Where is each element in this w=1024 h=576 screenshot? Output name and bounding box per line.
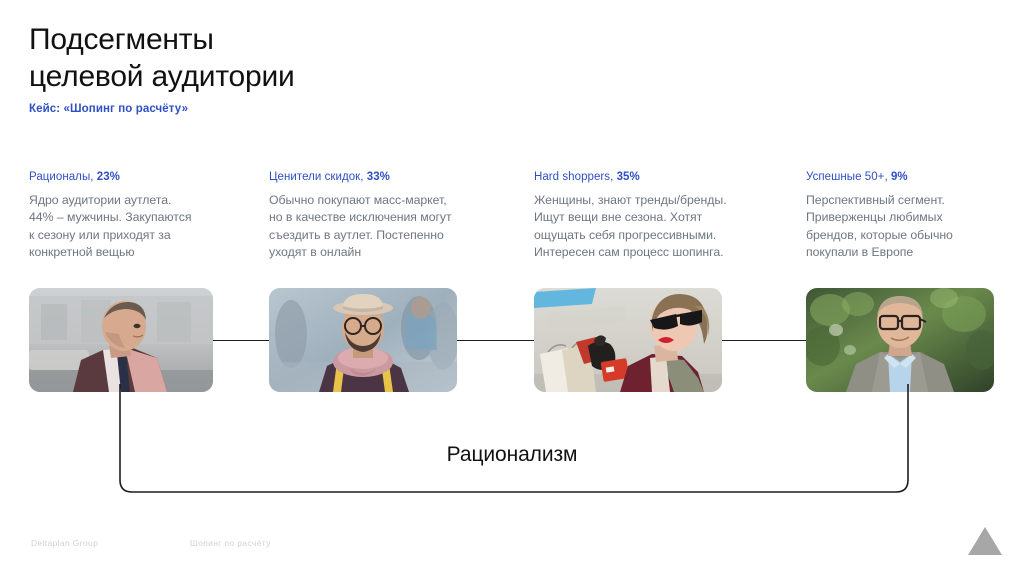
photo-illustration-4 — [806, 288, 994, 392]
segment-column-tseniteli-skidok: Ценители скидок, 33% Обычно покупают мас… — [269, 171, 504, 262]
footer-brand: Deltaplan Group — [31, 538, 98, 548]
segment-name: Hard shoppers, — [534, 171, 617, 183]
rationalism-bracket — [112, 384, 916, 500]
segment-column-uspeshnye-50plus: Успешные 50+, 9% Перспективный сегмент. … — [806, 171, 1011, 262]
photo-illustration-3 — [534, 288, 722, 392]
bracket-label: Рационализм — [0, 443, 1024, 467]
footer-case-name: Шопинг по расчёту — [190, 538, 271, 548]
triangle-logo-shape — [966, 524, 1004, 557]
segment-column-hard-shoppers: Hard shoppers, 35% Женщины, знают тренды… — [534, 171, 779, 262]
segment-description: Женщины, знают тренды/бренды. Ищут вещи … — [534, 192, 779, 262]
segment-percent: 33% — [367, 171, 390, 183]
connector-line-2 — [457, 340, 534, 341]
segment-name: Рационалы, — [29, 171, 97, 183]
segment-photo-man-in-pink-suit — [29, 288, 213, 392]
segment-columns: Рационалы, 23% Ядро аудитории аутлета. 4… — [0, 171, 1024, 271]
connector-line-1 — [213, 340, 269, 341]
segment-heading: Успешные 50+, 9% — [806, 171, 1011, 183]
photo-illustration-1 — [29, 288, 213, 392]
segment-column-rationaly: Рационалы, 23% Ядро аудитории аутлета. 4… — [29, 171, 244, 262]
segment-name: Успешные 50+, — [806, 171, 891, 183]
segment-percent: 9% — [891, 171, 908, 183]
photo-illustration-2 — [269, 288, 457, 392]
segment-percent: 23% — [97, 171, 120, 183]
triangle-logo-icon — [966, 524, 1004, 557]
segment-name: Ценители скидок, — [269, 171, 367, 183]
connector-line-3 — [722, 340, 806, 341]
segment-photo-woman-with-sunglasses-shopping — [534, 288, 722, 392]
page-title: Подсегменты целевой аудитории — [29, 22, 295, 96]
segment-description: Обычно покупают масс-маркет, но в качест… — [269, 192, 504, 262]
bracket-path — [112, 384, 916, 500]
segment-heading: Рационалы, 23% — [29, 171, 244, 183]
segment-description: Ядро аудитории аутлета. 44% – мужчины. З… — [29, 192, 244, 262]
segment-description: Перспективный сегмент. Приверженцы любим… — [806, 192, 1011, 262]
segment-heading: Ценители скидок, 33% — [269, 171, 504, 183]
segment-photo-hipster-man-with-hat — [269, 288, 457, 392]
segment-photo-older-man-in-gray-blazer — [806, 288, 994, 392]
slide-root: Подсегменты целевой аудитории Кейс: «Шоп… — [0, 0, 1024, 576]
segment-heading: Hard shoppers, 35% — [534, 171, 779, 183]
segment-percent: 35% — [617, 171, 640, 183]
case-subtitle: Кейс: «Шопинг по расчёту» — [29, 103, 188, 115]
